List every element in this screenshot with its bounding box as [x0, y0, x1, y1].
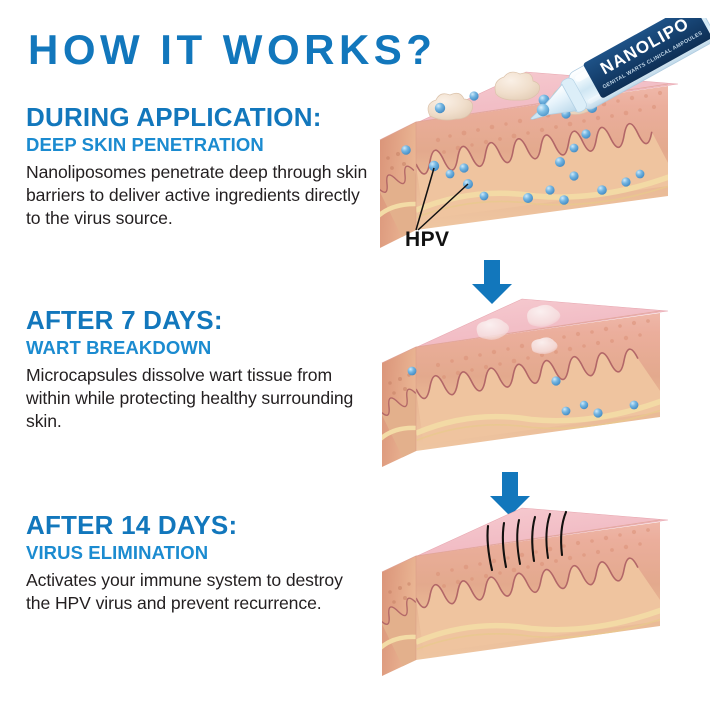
page-title: HOW IT WORKS? [28, 29, 436, 71]
infographic-canvas: HOW IT WORKS? DURING APPLICATION: DEEP S… [0, 0, 710, 710]
skin-diagram-stage-3 [380, 512, 670, 682]
section-1-body: Nanoliposomes penetrate deep through ski… [26, 161, 371, 230]
section-after-14-days: AFTER 14 DAYS: VIRUS ELIMINATION Activat… [26, 512, 371, 615]
section-during-application: DURING APPLICATION: DEEP SKIN PENETRATIO… [26, 104, 371, 229]
hpv-label: HPV [405, 228, 449, 252]
section-1-heading: DURING APPLICATION: [26, 104, 371, 132]
liquid-droplet-icon [537, 104, 549, 116]
section-1-subheading: DEEP SKIN PENETRATION [26, 135, 371, 155]
section-2-heading: AFTER 7 DAYS: [26, 307, 371, 335]
arrow-stage-1-to-2 [468, 258, 516, 311]
section-3-subheading: VIRUS ELIMINATION [26, 543, 371, 563]
section-after-7-days: AFTER 7 DAYS: WART BREAKDOWN Microcapsul… [26, 307, 371, 432]
section-3-heading: AFTER 14 DAYS: [26, 512, 371, 540]
section-2-subheading: WART BREAKDOWN [26, 338, 371, 358]
applicator-pen: NANOLIPO GENITAL WARTS CLINICAL AMPOULES [518, 18, 710, 130]
section-3-body: Activates your immune system to destroy … [26, 569, 371, 615]
skin-diagram-stage-2 [380, 305, 670, 473]
section-2-body: Microcapsules dissolve wart tissue from … [26, 364, 371, 433]
